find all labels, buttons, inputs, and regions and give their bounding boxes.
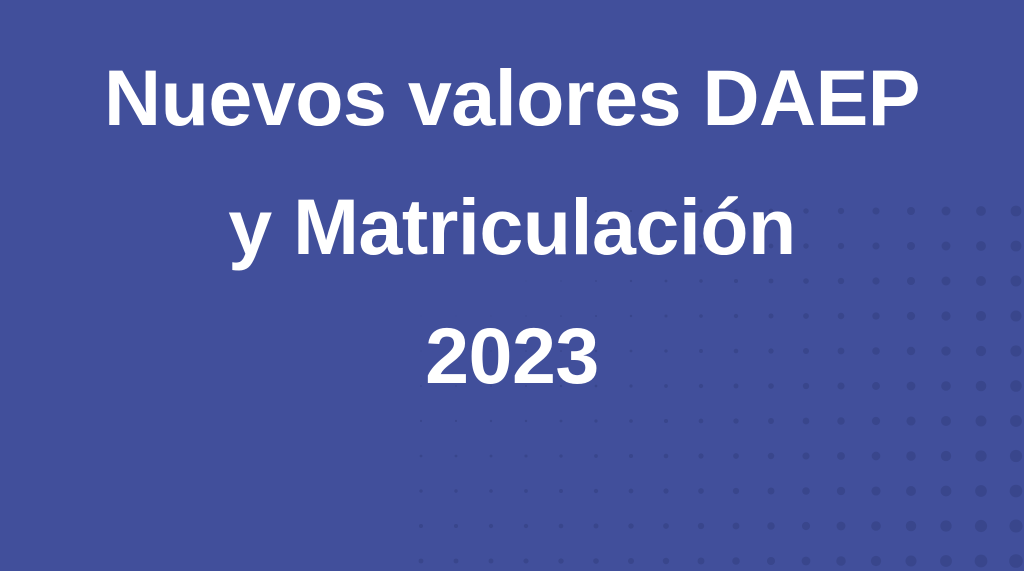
promo-banner: Nuevos valores DAEP y Matriculación 2023: [0, 0, 1024, 571]
banner-title-block: Nuevos valores DAEP y Matriculación 2023: [0, 0, 1024, 571]
title-line-2: y Matriculación: [228, 163, 796, 292]
title-line-3: 2023: [425, 292, 599, 421]
title-line-1: Nuevos valores DAEP: [104, 34, 920, 163]
